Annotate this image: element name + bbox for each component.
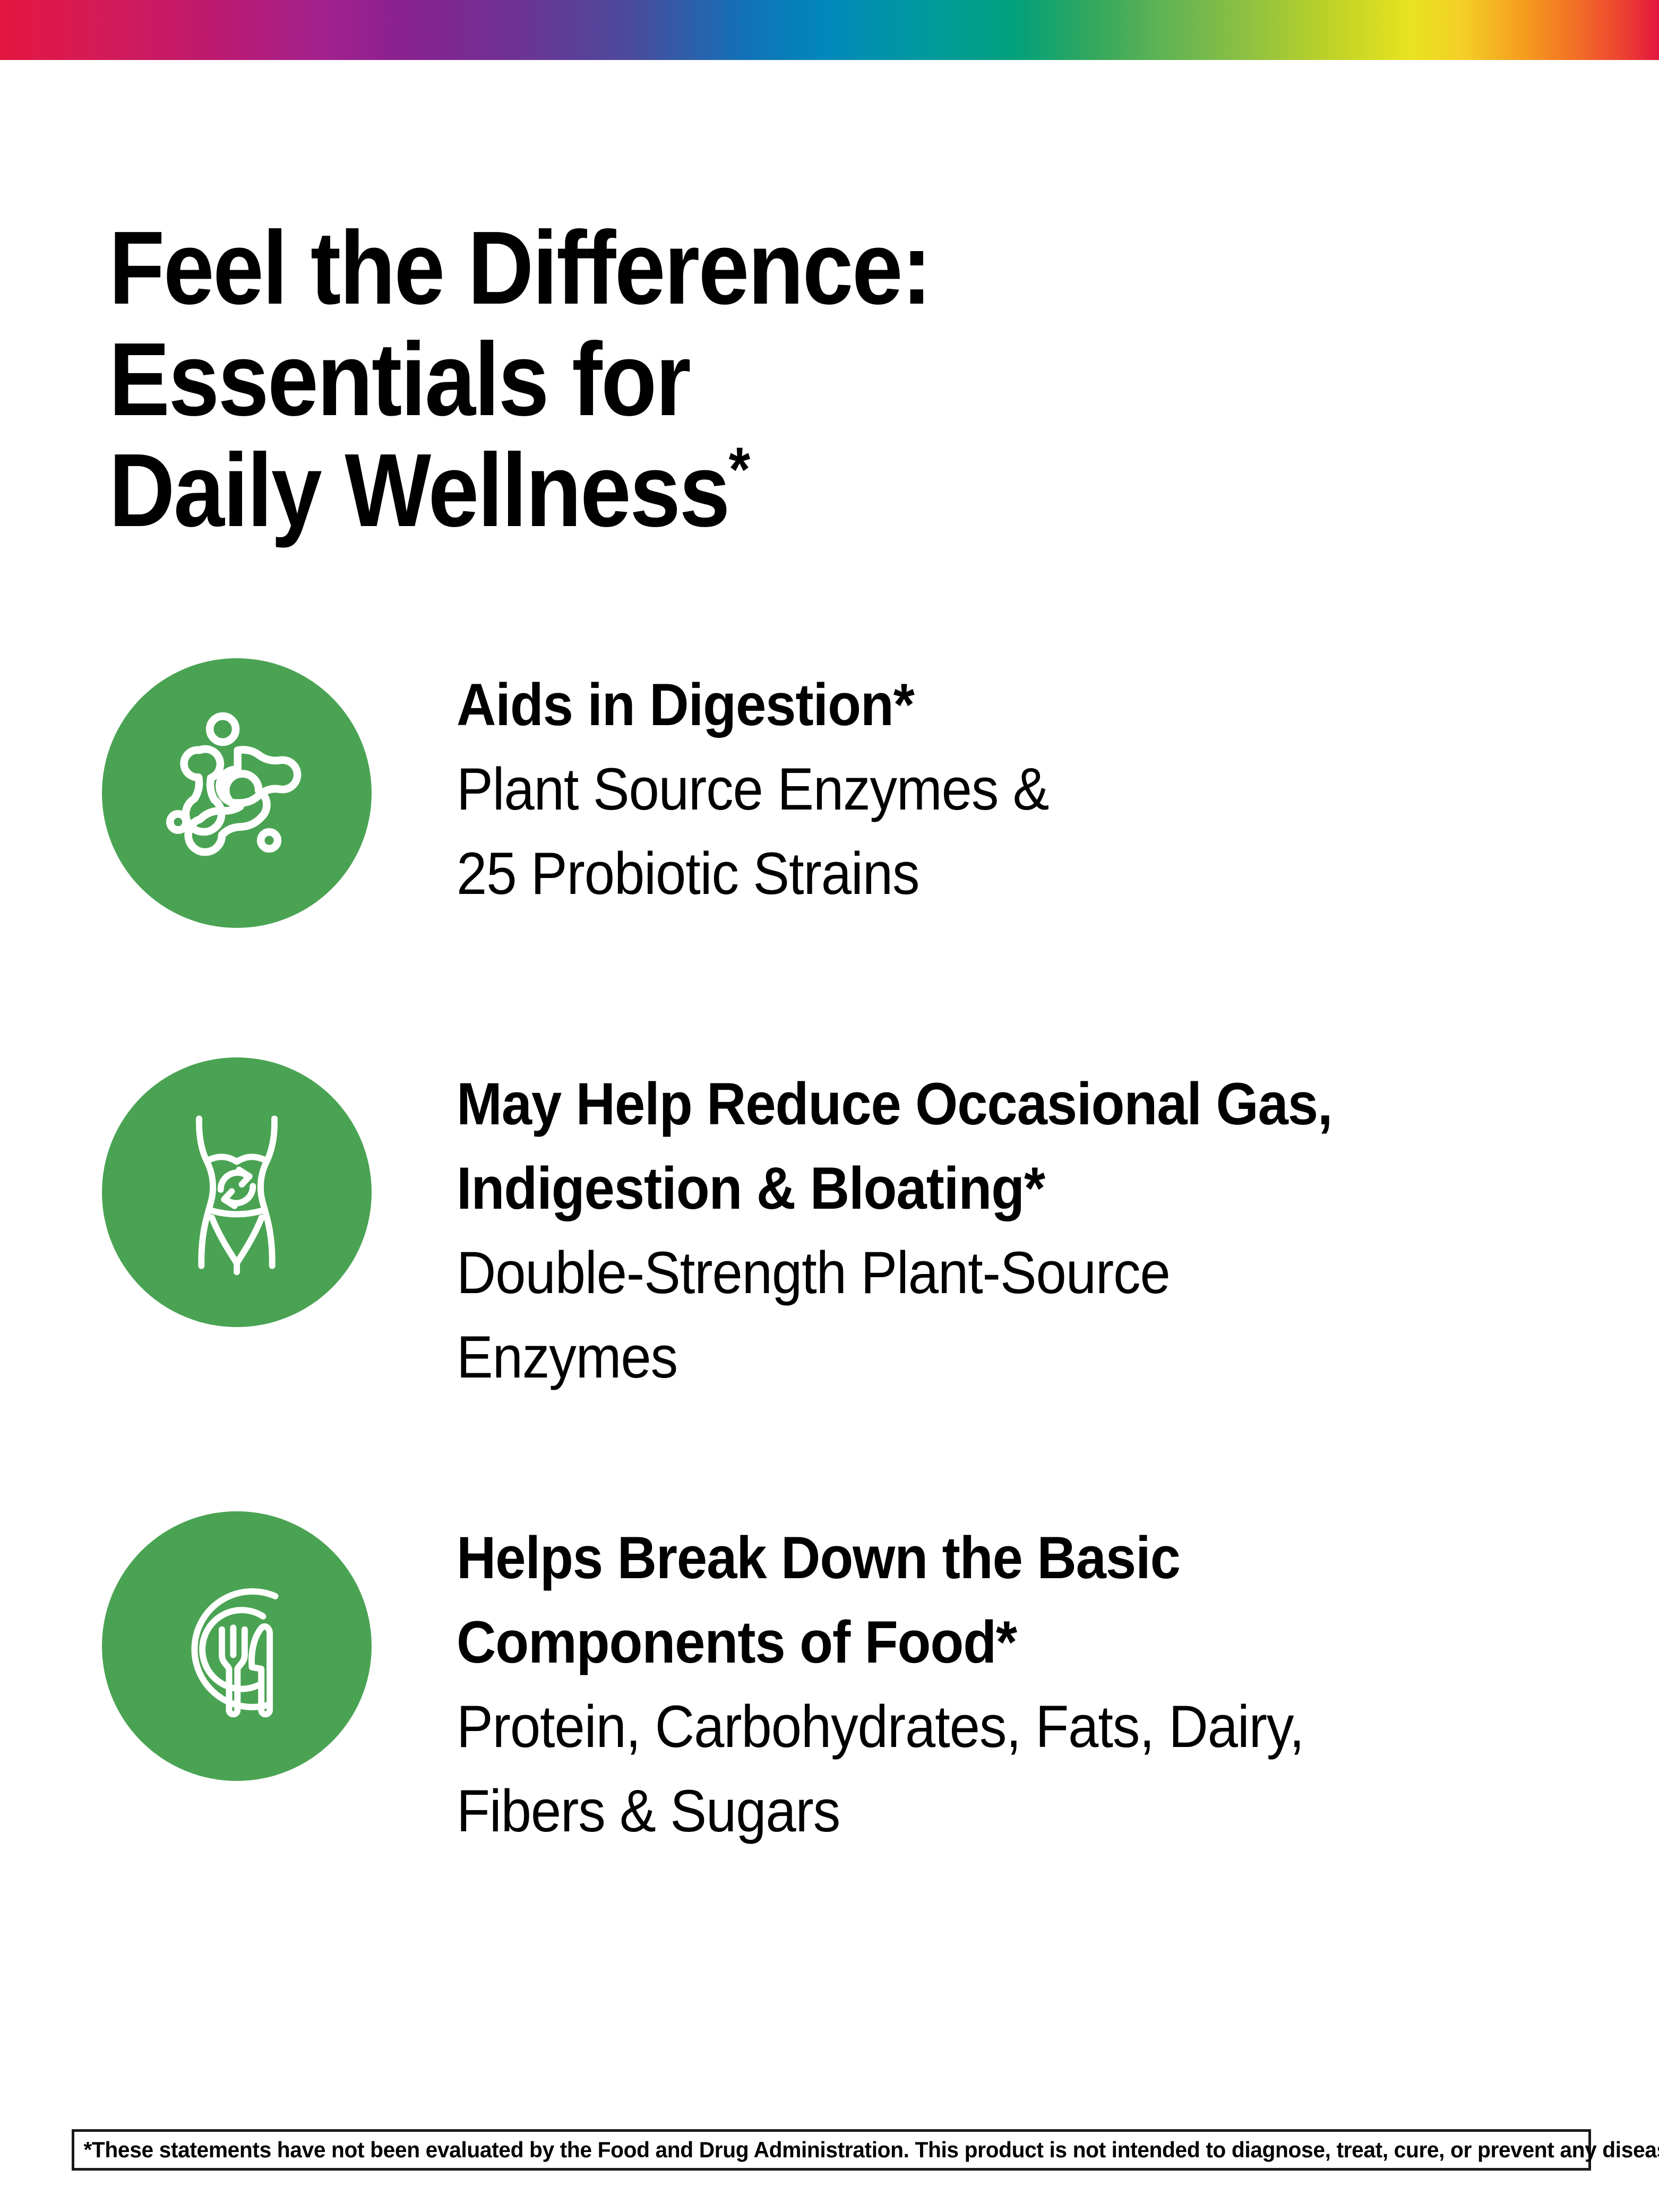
plate-fork-knife-icon xyxy=(102,1511,372,1781)
benefit-subtitle-line: Enzymes xyxy=(457,1315,1507,1399)
benefit-text-block: Helps Break Down the Basic Components of… xyxy=(457,1511,1598,1853)
fda-disclaimer-box: *These statements have not been evaluate… xyxy=(72,2129,1591,2171)
headline-asterisk: * xyxy=(729,435,749,505)
benefit-item: Helps Break Down the Basic Components of… xyxy=(0,1511,1659,1853)
benefit-title: Aids in Digestion* xyxy=(457,662,1507,747)
page-title: Feel the Difference: Essentials for Dail… xyxy=(109,212,1183,546)
headline-line-3: Daily Wellness xyxy=(109,432,729,548)
benefit-item: Aids in Digestion* Plant Source Enzymes … xyxy=(0,658,1659,928)
benefit-title: May Help Reduce Occasional Gas, xyxy=(457,1062,1507,1146)
headline-line-2: Essentials for xyxy=(109,321,690,437)
benefit-subtitle-line: Fibers & Sugars xyxy=(457,1769,1507,1853)
benefit-text-block: May Help Reduce Occasional Gas, Indigest… xyxy=(457,1057,1598,1399)
fda-disclaimer-text: *These statements have not been evaluate… xyxy=(74,2139,1659,2161)
benefit-text-block: Aids in Digestion* Plant Source Enzymes … xyxy=(457,658,1598,916)
benefit-subtitle-line: Protein, Carbohydrates, Fats, Dairy, xyxy=(457,1684,1507,1769)
benefits-list: Aids in Digestion* Plant Source Enzymes … xyxy=(0,658,1659,1853)
benefit-title: Components of Food* xyxy=(457,1600,1507,1684)
torso-digestion-cycle-icon xyxy=(102,1057,372,1327)
benefit-title: Indigestion & Bloating* xyxy=(457,1146,1507,1230)
benefit-subtitle-line: 25 Probiotic Strains xyxy=(457,831,1507,916)
benefit-subtitle-line: Double-Strength Plant-Source xyxy=(457,1230,1507,1315)
benefit-item: May Help Reduce Occasional Gas, Indigest… xyxy=(0,1057,1659,1399)
benefit-subtitle-line: Plant Source Enzymes & xyxy=(457,747,1507,831)
rainbow-gradient-bar xyxy=(0,0,1659,60)
headline-line-1: Feel the Difference: xyxy=(109,210,931,326)
probiotic-microbes-icon xyxy=(102,658,372,928)
benefit-title: Helps Break Down the Basic xyxy=(457,1516,1507,1600)
